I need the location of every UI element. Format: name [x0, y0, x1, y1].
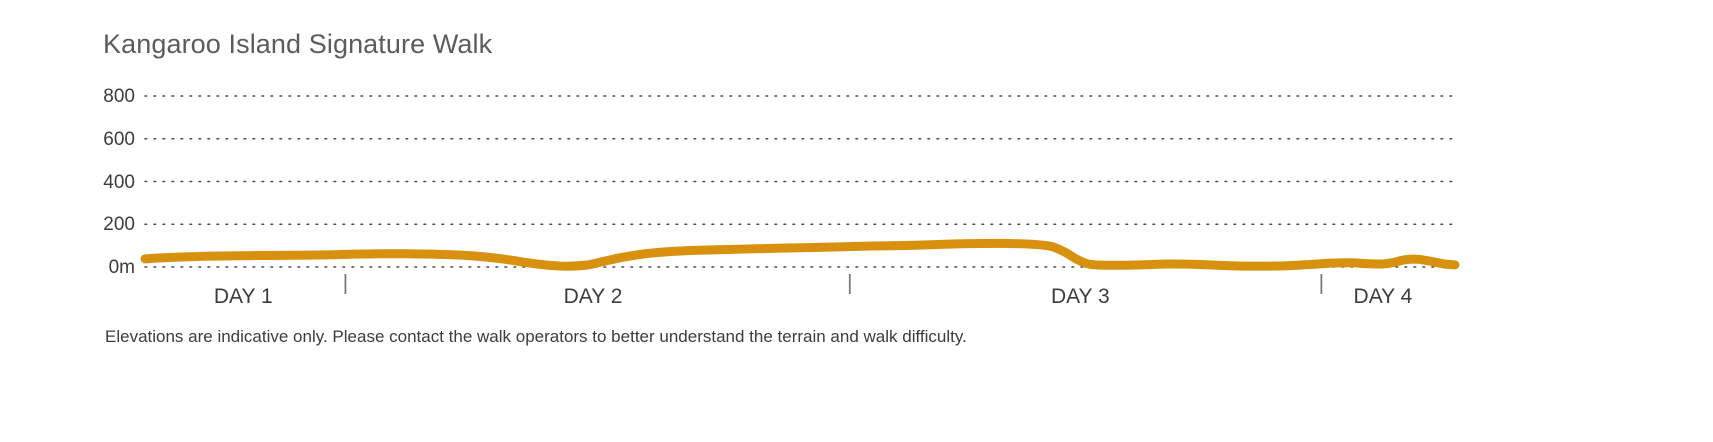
x-tick-label-day-3: DAY 3 [1051, 286, 1110, 307]
y-tick-label-400: 400 [75, 173, 135, 192]
chart-footnote: Elevations are indicative only. Please c… [105, 327, 967, 347]
elevation-chart-plot [0, 0, 1713, 442]
x-tick-label-day-1: DAY 1 [214, 286, 273, 307]
x-tick-label-day-2: DAY 2 [564, 286, 623, 307]
y-tick-label-800: 800 [75, 87, 135, 106]
day-boundary-ticks-group [345, 274, 1321, 294]
elevation-profile-widget: Kangaroo Island Signature Walk 0m2004006… [0, 0, 1713, 442]
x-tick-label-day-4: DAY 4 [1354, 286, 1413, 307]
gridlines-group [145, 96, 1455, 267]
y-tick-label-600: 600 [75, 130, 135, 149]
y-tick-label-200: 200 [75, 215, 135, 234]
y-tick-label-0m: 0m [75, 258, 135, 277]
elevation-line [145, 243, 1455, 266]
